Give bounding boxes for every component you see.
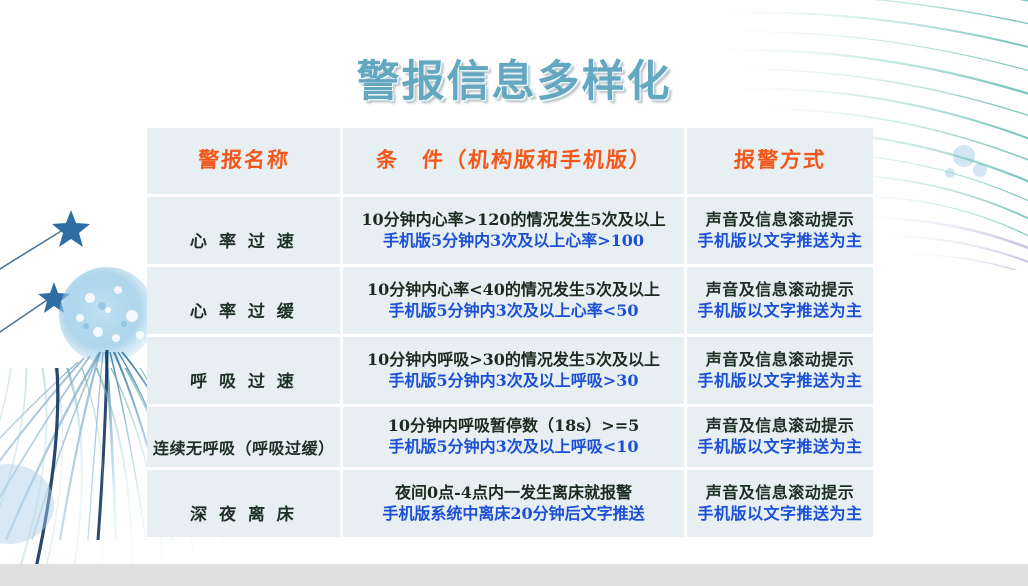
condition-line-1: 10分钟内呼吸暂停数（18s）>=5	[347, 416, 680, 437]
method-line-2: 手机版以文字推送为主	[691, 371, 869, 392]
alert-name-label: 心 率 过 缓	[190, 303, 298, 323]
table-row: 心 率 过 速 10分钟内心率>120的情况发生5次及以上 手机版5分钟内3次及…	[147, 197, 873, 267]
cell-method: 声音及信息滚动提示 手机版以文字推送为主	[687, 337, 873, 407]
header-cell-condition: 条 件（机构版和手机版）	[343, 128, 687, 197]
cell-condition: 10分钟内呼吸>30的情况发生5次及以上 手机版5分钟内3次及以上呼吸>30	[343, 337, 687, 407]
condition-line-1: 10分钟内呼吸>30的情况发生5次及以上	[347, 350, 680, 371]
cell-alert-name: 呼 吸 过 速	[147, 337, 343, 407]
slide-canvas: 警报信息多样化 警报名称 条 件（机构版和手机版） 报警方式 心	[0, 0, 1028, 586]
alert-name-label: 心 率 过 速	[190, 233, 298, 253]
cell-alert-name: 连续无呼吸（呼吸过缓）	[147, 407, 343, 470]
alert-name-label: 连续无呼吸（呼吸过缓）	[152, 440, 334, 458]
alert-name-label: 深 夜 离 床	[190, 506, 298, 526]
cell-method: 声音及信息滚动提示 手机版以文字推送为主	[687, 407, 873, 470]
cell-condition: 夜间0点-4点内一发生离床就报警 手机版系统中离床20分钟后文字推送	[343, 470, 687, 537]
cell-alert-name: 深 夜 离 床	[147, 470, 343, 537]
method-line-2: 手机版以文字推送为主	[691, 437, 869, 458]
cell-method: 声音及信息滚动提示 手机版以文字推送为主	[687, 267, 873, 337]
method-line-2: 手机版以文字推送为主	[691, 231, 869, 252]
cell-condition: 10分钟内心率<40的情况发生5次及以上 手机版5分钟内3次及以上心率<50	[343, 267, 687, 337]
condition-line-2: 手机版5分钟内3次及以上心率>100	[347, 231, 680, 252]
method-line-1: 声音及信息滚动提示	[691, 416, 869, 437]
method-line-1: 声音及信息滚动提示	[691, 210, 869, 231]
header-cell-method: 报警方式	[687, 128, 873, 197]
condition-line-2: 手机版系统中离床20分钟后文字推送	[347, 504, 680, 525]
cell-condition: 10分钟内呼吸暂停数（18s）>=5 手机版5分钟内3次及以上呼吸<10	[343, 407, 687, 470]
table-row: 深 夜 离 床 夜间0点-4点内一发生离床就报警 手机版系统中离床20分钟后文字…	[147, 470, 873, 537]
table-row: 呼 吸 过 速 10分钟内呼吸>30的情况发生5次及以上 手机版5分钟内3次及以…	[147, 337, 873, 407]
method-line-1: 声音及信息滚动提示	[691, 280, 869, 301]
header-cell-name: 警报名称	[147, 128, 343, 197]
header-label-condition: 条 件（机构版和手机版）	[375, 149, 653, 172]
condition-line-1: 夜间0点-4点内一发生离床就报警	[347, 483, 680, 504]
table-row: 心 率 过 缓 10分钟内心率<40的情况发生5次及以上 手机版5分钟内3次及以…	[147, 267, 873, 337]
condition-line-2: 手机版5分钟内3次及以上心率<50	[347, 301, 680, 322]
cell-method: 声音及信息滚动提示 手机版以文字推送为主	[687, 197, 873, 267]
header-label-name: 警报名称	[197, 149, 291, 172]
table-header-row: 警报名称 条 件（机构版和手机版） 报警方式	[147, 128, 873, 197]
alert-types-table: 警报名称 条 件（机构版和手机版） 报警方式 心 率 过 速 10分钟内心率>1…	[147, 128, 873, 537]
method-line-1: 声音及信息滚动提示	[691, 350, 869, 371]
cell-method: 声音及信息滚动提示 手机版以文字推送为主	[687, 470, 873, 537]
cell-alert-name: 心 率 过 速	[147, 197, 343, 267]
header-label-method: 报警方式	[733, 149, 827, 172]
cell-alert-name: 心 率 过 缓	[147, 267, 343, 337]
cell-condition: 10分钟内心率>120的情况发生5次及以上 手机版5分钟内3次及以上心率>100	[343, 197, 687, 267]
page-title: 警报信息多样化	[0, 47, 1028, 109]
condition-line-1: 10分钟内心率<40的情况发生5次及以上	[347, 280, 680, 301]
condition-line-1: 10分钟内心率>120的情况发生5次及以上	[347, 210, 680, 231]
alert-name-label: 呼 吸 过 速	[190, 373, 298, 393]
method-line-2: 手机版以文字推送为主	[691, 301, 869, 322]
condition-line-2: 手机版5分钟内3次及以上呼吸>30	[347, 371, 680, 392]
bottom-strip	[0, 564, 1028, 586]
method-line-2: 手机版以文字推送为主	[691, 504, 869, 525]
table-row: 连续无呼吸（呼吸过缓） 10分钟内呼吸暂停数（18s）>=5 手机版5分钟内3次…	[147, 407, 873, 470]
condition-line-2: 手机版5分钟内3次及以上呼吸<10	[347, 437, 680, 458]
method-line-1: 声音及信息滚动提示	[691, 483, 869, 504]
